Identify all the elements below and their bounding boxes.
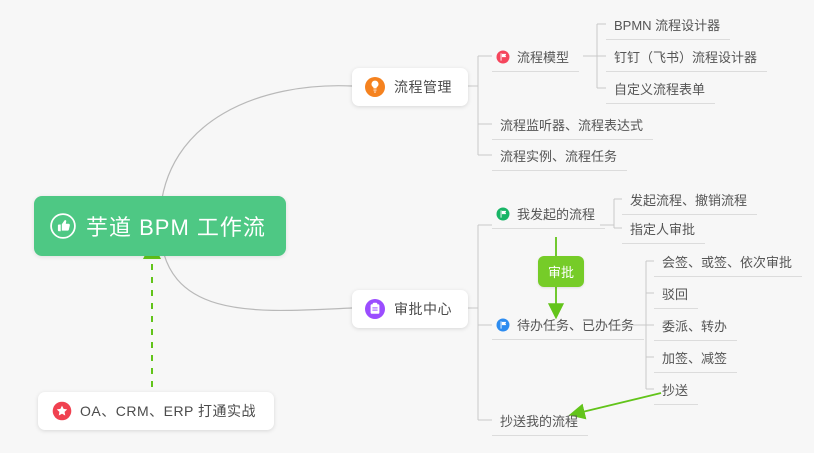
star-icon bbox=[52, 401, 72, 421]
node-label: 驳回 bbox=[662, 284, 688, 303]
node-start-cancel-process[interactable]: 发起流程、撤销流程 bbox=[622, 186, 757, 215]
node-bpmn-designer[interactable]: BPMN 流程设计器 bbox=[606, 11, 730, 40]
node-countersign-orsign-sequential[interactable]: 会签、或签、依次审批 bbox=[654, 248, 802, 277]
node-label: BPMN 流程设计器 bbox=[614, 15, 720, 34]
node-label: 审批中心 bbox=[394, 299, 452, 319]
node-label: 会签、或签、依次审批 bbox=[662, 252, 792, 271]
node-todo-done-tasks[interactable]: 待办任务、已办任务 bbox=[492, 311, 644, 340]
node-cc-to-me-process[interactable]: 抄送我的流程 bbox=[492, 407, 588, 436]
node-label: 流程模型 bbox=[517, 47, 569, 66]
clipboard-icon bbox=[364, 298, 386, 320]
node-label: 待办任务、已办任务 bbox=[517, 315, 634, 334]
node-process-model[interactable]: 流程模型 bbox=[492, 43, 579, 72]
node-process-management[interactable]: 流程管理 bbox=[352, 68, 468, 106]
node-label: 抄送 bbox=[662, 380, 688, 399]
node-approval-center[interactable]: 审批中心 bbox=[352, 290, 468, 328]
node-delegate-transfer[interactable]: 委派、转办 bbox=[654, 312, 737, 341]
node-label: OA、CRM、ERP 打通实战 bbox=[80, 401, 256, 421]
node-label: 指定人审批 bbox=[630, 219, 695, 238]
flag-icon bbox=[496, 207, 510, 221]
approval-chip: 审批 bbox=[538, 256, 584, 287]
thumbs-up-icon bbox=[50, 213, 76, 239]
flag-icon bbox=[496, 318, 510, 332]
node-process-listener-expression[interactable]: 流程监听器、流程表达式 bbox=[492, 111, 653, 140]
root-label: 芋道 BPM 工作流 bbox=[86, 210, 266, 242]
node-custom-process-form[interactable]: 自定义流程表单 bbox=[606, 75, 715, 104]
lightbulb-icon bbox=[364, 76, 386, 98]
node-assignee-approval[interactable]: 指定人审批 bbox=[622, 215, 705, 244]
node-label: 自定义流程表单 bbox=[614, 79, 705, 98]
node-add-remove-sign[interactable]: 加签、减签 bbox=[654, 344, 737, 373]
node-integration-note[interactable]: OA、CRM、ERP 打通实战 bbox=[38, 392, 274, 430]
flag-icon bbox=[496, 50, 510, 64]
node-label: 抄送我的流程 bbox=[500, 411, 578, 430]
node-label: 流程监听器、流程表达式 bbox=[500, 115, 643, 134]
node-label: 加签、减签 bbox=[662, 348, 727, 367]
node-label: 委派、转办 bbox=[662, 316, 727, 335]
node-process-instance-task[interactable]: 流程实例、流程任务 bbox=[492, 142, 627, 171]
mindmap-canvas: 芋道 BPM 工作流 流程管理 流程模型 BPMN 流程设计器 钉钉（飞书）流程… bbox=[0, 0, 814, 453]
node-label: 钉钉（飞书）流程设计器 bbox=[614, 47, 757, 66]
node-label: 流程管理 bbox=[394, 77, 452, 97]
node-label: 我发起的流程 bbox=[517, 204, 595, 223]
node-reject[interactable]: 驳回 bbox=[654, 280, 698, 309]
node-label: 流程实例、流程任务 bbox=[500, 146, 617, 165]
node-cc[interactable]: 抄送 bbox=[654, 376, 698, 405]
node-my-initiated-process[interactable]: 我发起的流程 bbox=[492, 200, 605, 229]
node-dingtalk-feishu-designer[interactable]: 钉钉（飞书）流程设计器 bbox=[606, 43, 767, 72]
node-label: 发起流程、撤销流程 bbox=[630, 190, 747, 209]
root-node[interactable]: 芋道 BPM 工作流 bbox=[34, 196, 286, 256]
